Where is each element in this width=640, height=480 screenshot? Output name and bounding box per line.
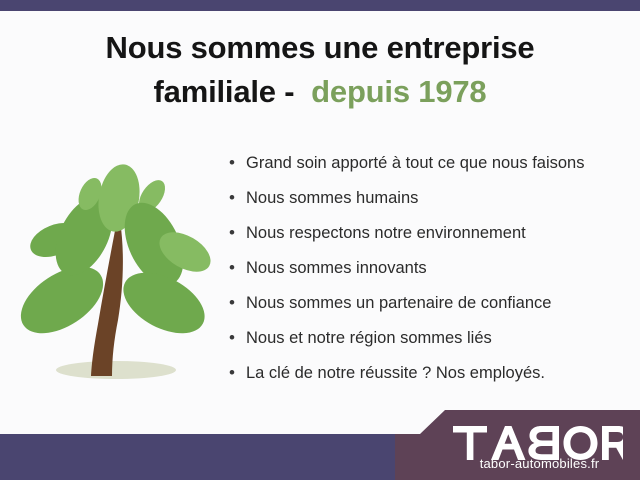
- headline-line-1: Nous sommes une entreprise: [0, 26, 640, 70]
- top-accent-bar: [0, 0, 640, 11]
- list-item: • Nous respectons notre environnement: [229, 220, 629, 255]
- bullet-marker-icon: •: [229, 255, 246, 280]
- tabor-wordmark: [453, 426, 623, 460]
- headline-line-2: familiale - depuis 1978: [0, 70, 640, 114]
- bullet-marker-icon: •: [229, 325, 246, 350]
- list-item-label: Nous sommes humains: [246, 185, 418, 212]
- list-item: • Grand soin apporté à tout ce que nous …: [229, 150, 629, 185]
- list-item: • Nous sommes un partenaire de confiance: [229, 290, 629, 325]
- family-tree-illustration: [12, 148, 217, 388]
- page-title: Nous sommes une entreprise familiale - d…: [0, 26, 640, 114]
- brand-logo-panel: tabor-automobiles.fr: [395, 410, 640, 480]
- bullet-marker-icon: •: [229, 290, 246, 315]
- list-item-label: Nous respectons notre environnement: [246, 220, 526, 247]
- bullet-marker-icon: •: [229, 220, 246, 245]
- tree-shadow: [56, 361, 176, 379]
- list-item-label: Grand soin apporté à tout ce que nous fa…: [246, 150, 584, 177]
- list-item-label: La clé de notre réussite ? Nos employés.: [246, 360, 545, 387]
- list-item-label: Nous sommes un partenaire de confiance: [246, 290, 551, 317]
- headline-accent-since: depuis 1978: [311, 74, 486, 109]
- bullet-marker-icon: •: [229, 150, 246, 175]
- list-item: • Nous et notre région sommes liés: [229, 325, 629, 360]
- list-item: • Nous sommes innovants: [229, 255, 629, 290]
- value-bullet-list: • Grand soin apporté à tout ce que nous …: [229, 150, 629, 395]
- brand-website-url: tabor-automobiles.fr: [395, 456, 640, 471]
- list-item: • La clé de notre réussite ? Nos employé…: [229, 360, 629, 395]
- list-item-label: Nous sommes innovants: [246, 255, 427, 282]
- list-item-label: Nous et notre région sommes liés: [246, 325, 492, 352]
- bullet-marker-icon: •: [229, 185, 246, 210]
- bullet-marker-icon: •: [229, 360, 246, 385]
- slide-canvas: Nous sommes une entreprise familiale - d…: [0, 0, 640, 480]
- headline-line-2-plain: familiale -: [154, 74, 312, 109]
- list-item: • Nous sommes humains: [229, 185, 629, 220]
